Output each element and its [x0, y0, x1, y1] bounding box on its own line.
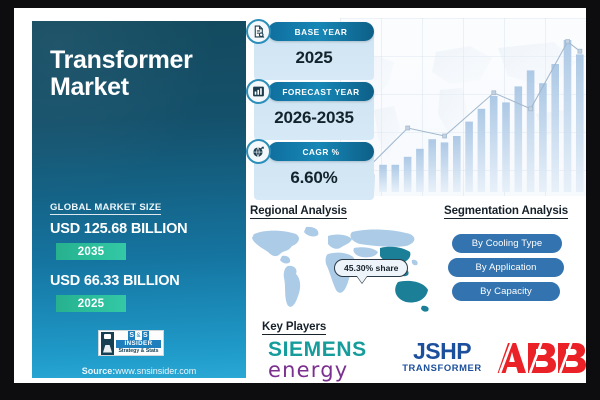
document-report-icon: [246, 19, 271, 44]
infographic-canvas: Transformer Market GLOBAL MARKET SIZE US…: [14, 8, 586, 383]
siemens-wordmark: SIEMENS: [268, 340, 367, 360]
base-market-value: USD 66.33 BILLION: [50, 273, 180, 289]
logo-brand-s2: S: [142, 331, 150, 340]
global-market-size-label: GLOBAL MARKET SIZE: [50, 202, 161, 215]
transformer-wordmark: TRANSFORMER: [394, 362, 490, 373]
segment-chip-cooling-type[interactable]: By Cooling Type: [452, 234, 562, 253]
logo-abb: [494, 342, 586, 374]
growth-bar-chart: [340, 18, 586, 196]
logo-jshp-transformer: JSHP TRANSFORMER: [394, 341, 490, 373]
growth-globe-icon: [246, 139, 271, 164]
lighthouse-icon: [101, 332, 114, 355]
logo-insider-text: INSIDER: [116, 340, 161, 348]
source-attribution: Source:www.snsinsider.com: [32, 366, 246, 376]
logo-brand-s1: S: [128, 331, 136, 340]
chart-svg: [340, 18, 586, 196]
jshp-wordmark: JSHP: [394, 341, 490, 362]
segment-chip-application[interactable]: By Application: [448, 258, 564, 277]
screenshot-frame: Transformer Market GLOBAL MARKET SIZE US…: [0, 0, 600, 400]
page-title-line-1: Transformer: [50, 47, 230, 74]
content-area: BASE YEAR 2025 FORECAST YEAR: [246, 8, 586, 383]
energy-wordmark: energy: [268, 360, 367, 380]
kpi-value: 2026-2035: [254, 108, 374, 128]
world-map: 45.30% share: [246, 224, 436, 316]
kpi-label-pill: CAGR %: [268, 142, 374, 161]
base-year-chip: 2025: [56, 295, 126, 312]
forecast-market-value: USD 125.68 BILLION: [50, 221, 187, 237]
regional-analysis-heading: Regional Analysis: [250, 205, 347, 219]
kpi-value: 2025: [254, 48, 374, 68]
source-url[interactable]: www.snsinsider.com: [115, 366, 196, 376]
segmentation-analysis-heading: Segmentation Analysis: [444, 205, 568, 219]
logo-text: S & S INSIDER Strategy & Stats: [116, 331, 161, 355]
logo-tagline: Strategy & Stats: [116, 348, 161, 355]
logo-siemens-energy: SIEMENS energy: [268, 340, 367, 380]
regional-share-bubble: 45.30% share: [334, 259, 408, 277]
source-prefix: Source:: [82, 366, 116, 376]
hero-panel: Transformer Market GLOBAL MARKET SIZE US…: [32, 21, 246, 378]
page-title-line-2: Market: [50, 74, 230, 101]
page-title: Transformer Market: [50, 47, 230, 101]
kpi-value: 6.60%: [254, 168, 374, 188]
forecast-year-chip: 2035: [56, 243, 126, 260]
logo-brand-amp: &: [136, 333, 140, 339]
sns-insider-logo: S & S INSIDER Strategy & Stats: [98, 330, 164, 356]
abb-wordmark: [494, 342, 586, 374]
kpi-label-pill: BASE YEAR: [268, 22, 374, 41]
key-players-heading: Key Players: [262, 321, 326, 335]
kpi-label-pill: FORECAST YEAR: [268, 82, 374, 101]
logo-brand-row: S & S: [116, 331, 161, 340]
segment-chip-capacity[interactable]: By Capacity: [452, 282, 560, 301]
key-players-logos: SIEMENS energy JSHP TRANSFORMER: [254, 338, 586, 382]
bar-chart-icon: [246, 79, 271, 104]
map-highlight-asia-pacific[interactable]: [380, 247, 429, 312]
